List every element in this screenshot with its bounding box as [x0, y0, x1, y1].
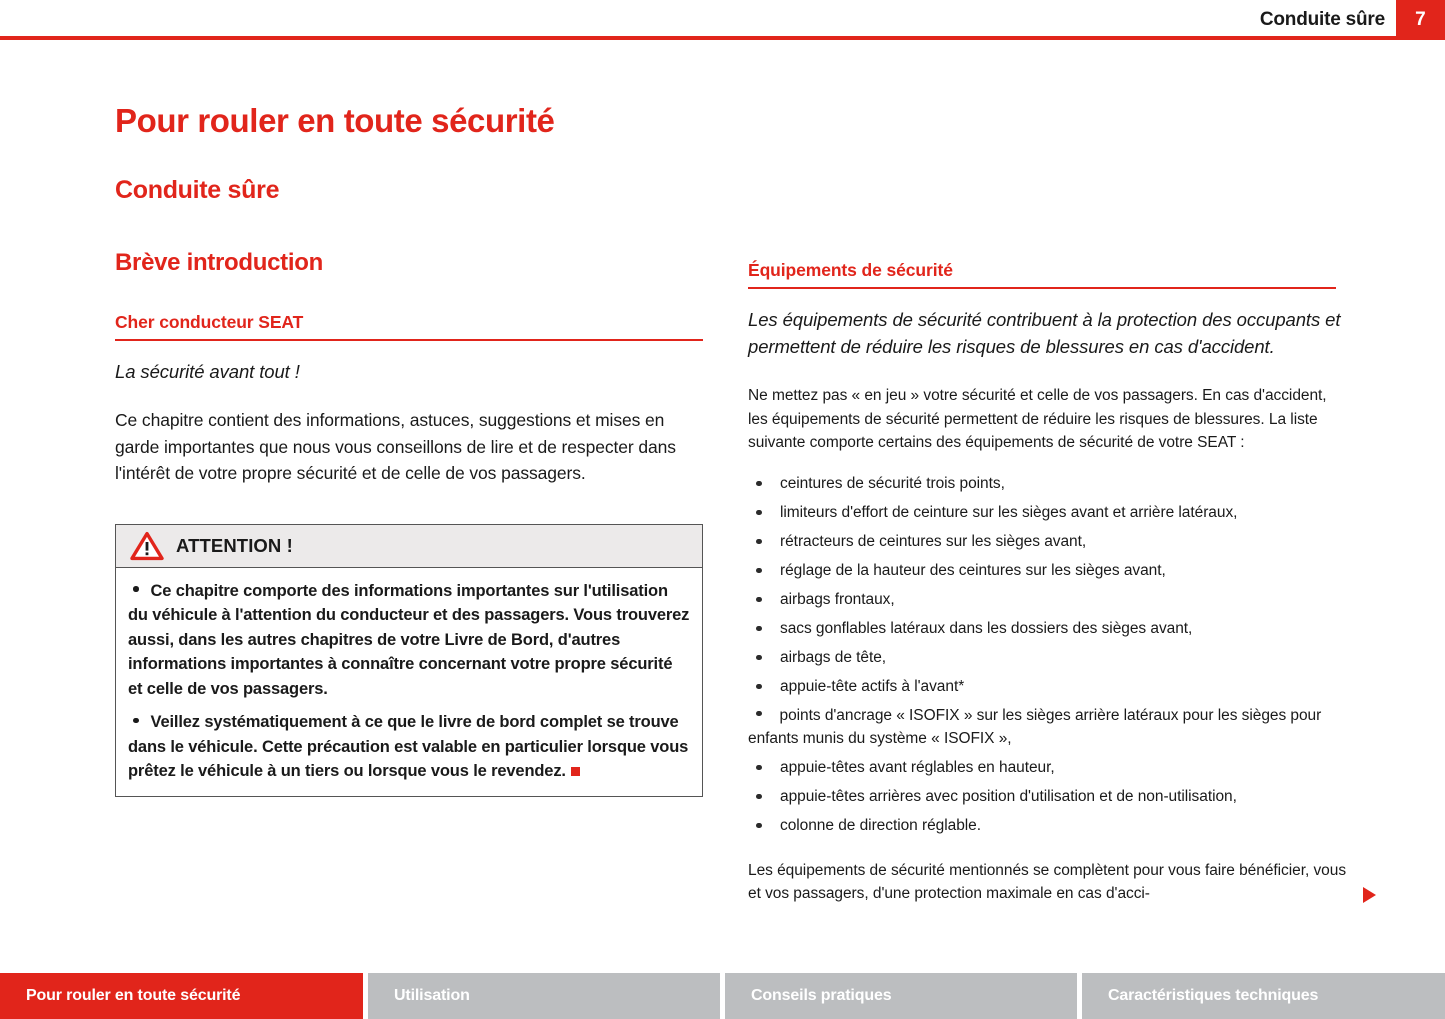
- bullet-dot-icon: [133, 718, 139, 724]
- list-item: colonne de direction réglable.: [748, 814, 1348, 837]
- footer-tab-conseils-pratiques[interactable]: Conseils pratiques: [725, 973, 1077, 1019]
- left-body-paragraph: Ce chapitre contient des informations, a…: [115, 407, 703, 487]
- right-body-paragraph: Ne mettez pas « en jeu » votre sécurité …: [748, 384, 1348, 455]
- list-item: airbags frontaux,: [748, 588, 1348, 611]
- page-header: Conduite sûre 7: [0, 0, 1445, 40]
- attention-item-text: Ce chapitre comporte des informations im…: [128, 582, 689, 698]
- page-content: Pour rouler en toute sécurité Conduite s…: [0, 40, 1445, 960]
- footer-tab-caracteristiques-techniques[interactable]: Caractéristiques techniques: [1082, 973, 1445, 1019]
- page-subtitle: Conduite sûre: [115, 176, 703, 205]
- footer-tab-pour-rouler-en-toute-securite[interactable]: Pour rouler en toute sécurité: [0, 973, 363, 1019]
- footer-navigation: Pour rouler en toute sécurité Utilisatio…: [0, 960, 1445, 1019]
- header-chapter-title: Conduite sûre: [1260, 0, 1385, 40]
- list-item: appuie-tête actifs à l'avant*: [748, 675, 1348, 698]
- bullet-dot-icon: [133, 586, 139, 592]
- footer-tab-label: Caractéristiques techniques: [1108, 987, 1318, 1005]
- footer-tab-utilisation[interactable]: Utilisation: [368, 973, 720, 1019]
- subsection-heading-cher-conducteur-seat: Cher conducteur SEAT: [115, 312, 703, 341]
- page-number-badge: 7: [1396, 0, 1445, 40]
- safety-equipment-list: ceintures de sécurité trois points, limi…: [748, 472, 1348, 837]
- footer-tab-label: Utilisation: [394, 987, 470, 1005]
- list-item: appuie-têtes avant réglables en hauteur,: [748, 756, 1348, 779]
- right-column: Équipements de sécurité Les équipements …: [748, 260, 1348, 906]
- footer-tab-label: Conseils pratiques: [751, 987, 891, 1005]
- list-item: limiteurs d'effort de ceinture sur les s…: [748, 501, 1348, 524]
- attention-callout-title: ATTENTION !: [176, 535, 293, 557]
- warning-triangle-icon: [130, 531, 164, 561]
- list-item: rétracteurs de ceintures sur les sièges …: [748, 530, 1348, 553]
- attention-item-text: Veillez systématiquement à ce que le liv…: [128, 713, 688, 780]
- subsection-heading-equipements-de-securite: Équipements de sécurité: [748, 260, 1336, 289]
- attention-callout-header: ATTENTION !: [116, 525, 702, 568]
- list-item: réglage de la hauteur des ceintures sur …: [748, 559, 1348, 582]
- list-item: sacs gonflables latéraux dans les dossie…: [748, 617, 1348, 640]
- list-item: points d'ancrage « ISOFIX » sur les sièg…: [748, 704, 1348, 750]
- left-lead-paragraph: La sécurité avant tout !: [115, 358, 703, 385]
- right-tail-paragraph: Les équipements de sécurité mentionnés s…: [748, 859, 1348, 906]
- list-item: airbags de tête,: [748, 646, 1348, 669]
- page-title: Pour rouler en toute sécurité: [115, 102, 703, 140]
- attention-item: Ce chapitre comporte des informations im…: [128, 579, 690, 702]
- section-heading-breve-introduction: Brève introduction: [115, 249, 703, 277]
- list-item-text: points d'ancrage « ISOFIX » sur les sièg…: [748, 707, 1321, 747]
- attention-callout-body: Ce chapitre comporte des informations im…: [116, 568, 702, 796]
- right-tail-wrapper: Les équipements de sécurité mentionnés s…: [748, 859, 1348, 906]
- right-triangle-icon: [1363, 887, 1376, 903]
- attention-callout-box: ATTENTION ! Ce chapitre comporte des inf…: [115, 524, 703, 797]
- attention-item: Veillez systématiquement à ce que le liv…: [128, 710, 690, 784]
- right-lead-paragraph: Les équipements de sécurité contribuent …: [748, 306, 1348, 360]
- left-column: Pour rouler en toute sécurité Conduite s…: [115, 102, 703, 797]
- list-item: appuie-têtes arrières avec position d'ut…: [748, 785, 1348, 808]
- footer-tab-label: Pour rouler en toute sécurité: [26, 987, 240, 1005]
- list-item: ceintures de sécurité trois points,: [748, 472, 1348, 495]
- bullet-dot-icon: [756, 711, 762, 717]
- end-of-note-square-icon: [571, 767, 580, 776]
